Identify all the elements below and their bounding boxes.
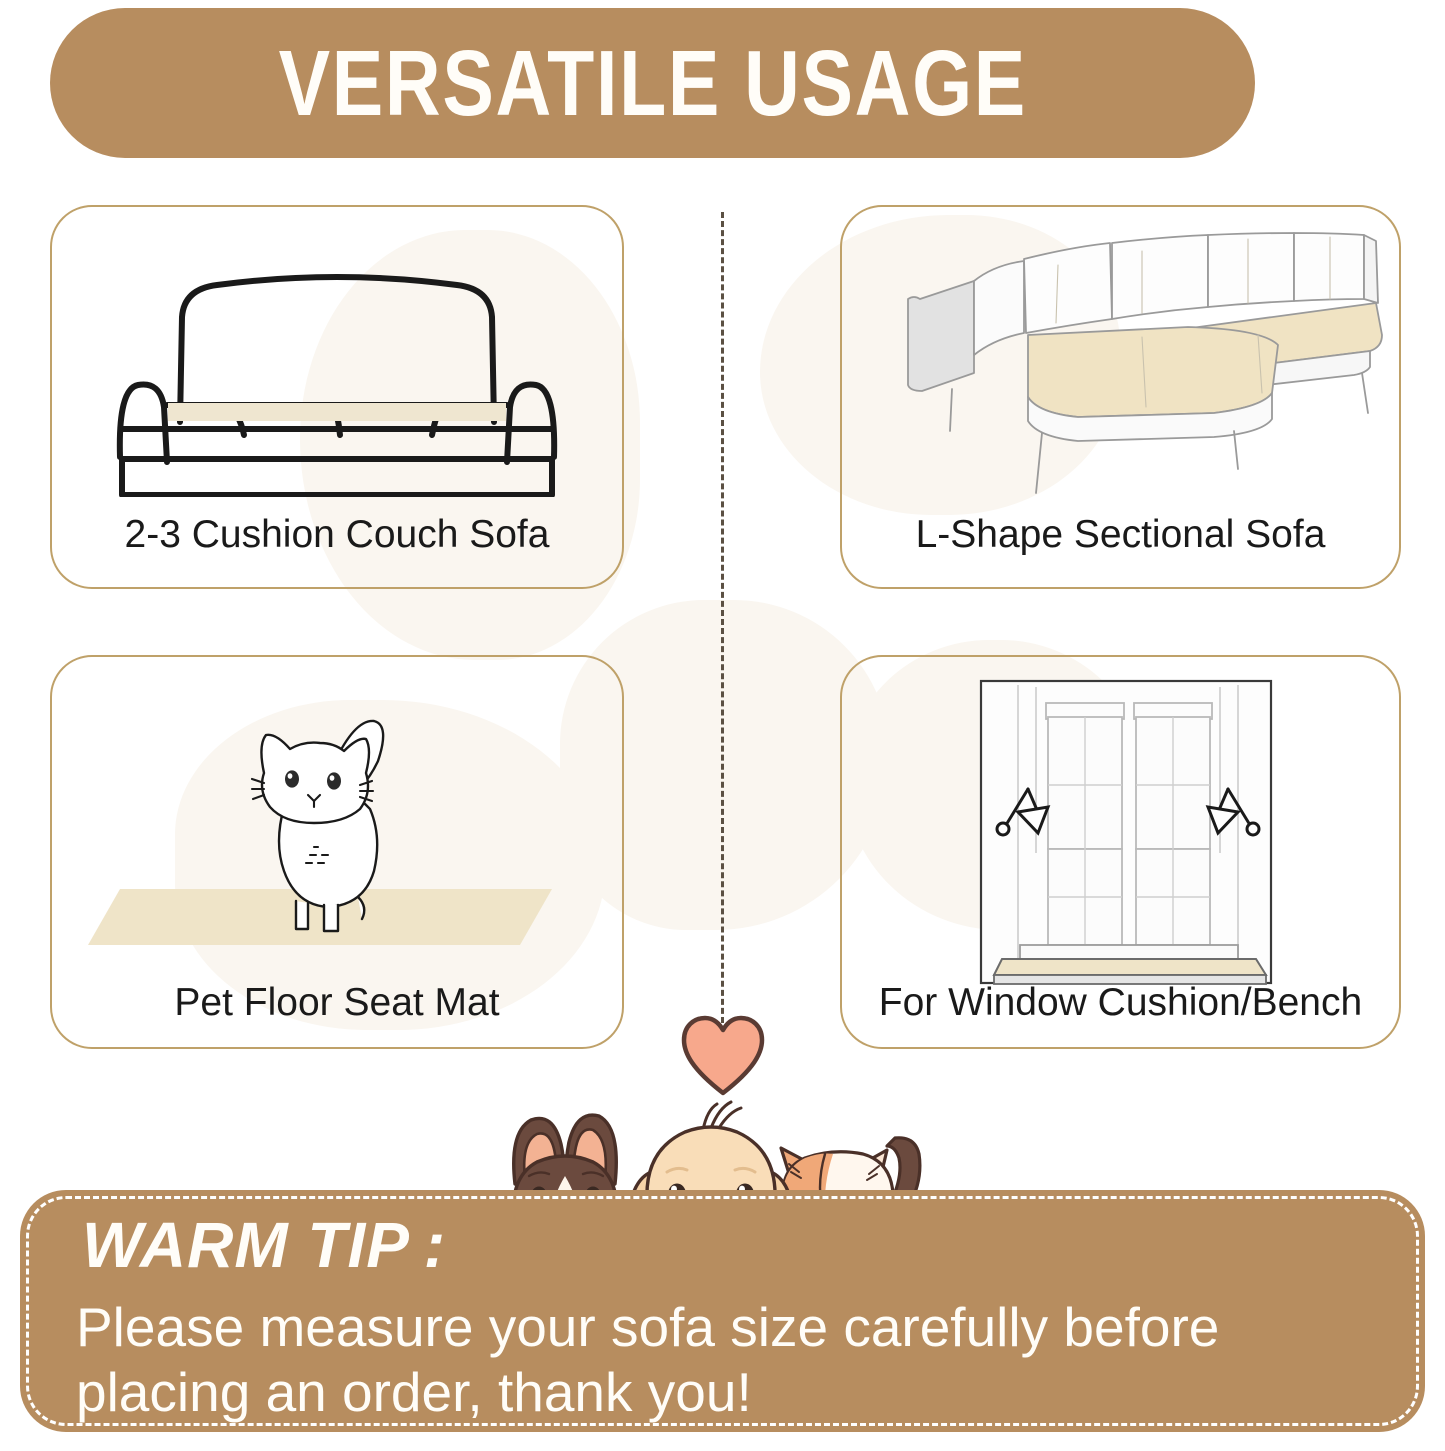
couch-sofa-illustration [52, 207, 622, 502]
usage-card-sectional-sofa[interactable]: L-Shape Sectional Sofa [840, 205, 1401, 589]
card-label: 2-3 Cushion Couch Sofa [52, 513, 622, 557]
warm-tip-title: WARM TIP : [82, 1208, 446, 1282]
warm-tip-body: Please measure your sofa size carefully … [76, 1295, 1406, 1425]
card-label: L-Shape Sectional Sofa [842, 513, 1399, 557]
usage-card-pet-mat[interactable]: Pet Floor Seat Mat [50, 655, 624, 1049]
cat-on-mat-illustration [52, 657, 622, 972]
page-title-banner: VERSATILE USAGE [50, 8, 1255, 158]
card-label: For Window Cushion/Bench [842, 981, 1399, 1025]
vertical-dashed-divider [721, 212, 724, 1032]
usage-card-window-bench[interactable]: For Window Cushion/Bench [840, 655, 1401, 1049]
warm-tip-banner: WARM TIP : Please measure your sofa size… [20, 1190, 1425, 1432]
card-label: Pet Floor Seat Mat [52, 981, 622, 1025]
sectional-sofa-illustration [842, 207, 1399, 502]
usage-card-couch-sofa[interactable]: 2-3 Cushion Couch Sofa [50, 205, 624, 589]
heart-icon [678, 1013, 768, 1098]
page-title: VERSATILE USAGE [278, 37, 1026, 130]
window-bench-illustration [842, 657, 1399, 992]
